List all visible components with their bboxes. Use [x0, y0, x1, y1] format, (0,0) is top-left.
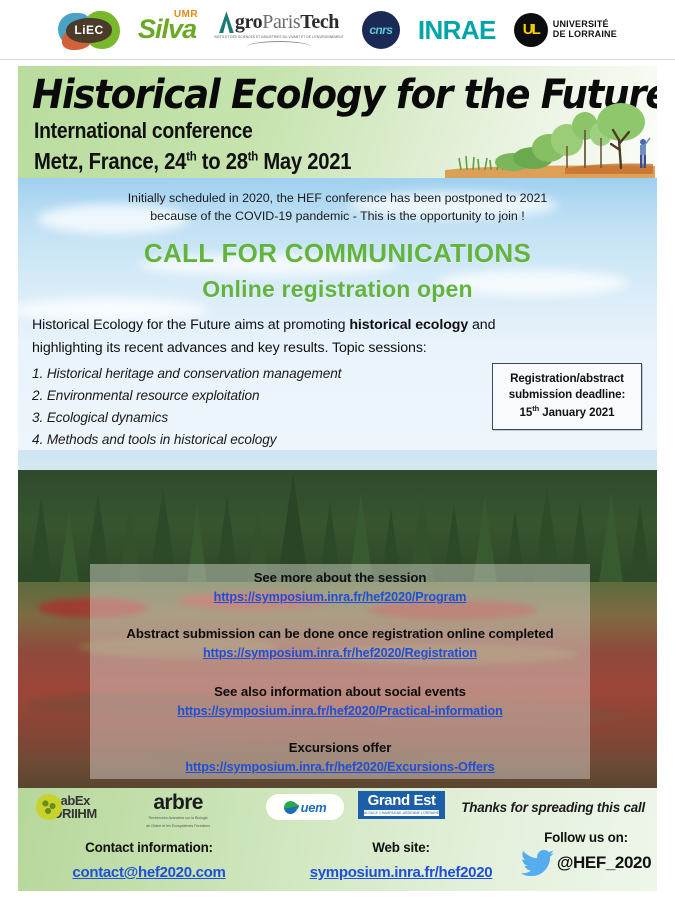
link-header-session: See more about the session [90, 570, 590, 585]
liec-logo: LiEC [58, 10, 120, 50]
link-url-registration[interactable]: https://symposium.inra.fr/hef2020/Regist… [90, 646, 590, 660]
title-banner: Historical Ecology for the Future Intern… [18, 66, 657, 178]
arbre-tagline-2: de l'Arbre et les Ecosystèmes Forestiers [146, 824, 210, 829]
conifer-tree [28, 498, 54, 590]
arbre-tagline-1: Recherches Avancées sur la Biologie [146, 816, 210, 821]
ul-wordmark: UNIVERSITÉ DE LORRAINE [553, 20, 617, 39]
uem-leaf-icon [281, 798, 299, 816]
date-mid: to 28 [196, 148, 247, 174]
landscape-photo-section: See more about the session https://sympo… [18, 450, 657, 788]
conference-poster: LiEC Silva UMR groParisTech INSTITUT DES… [0, 0, 675, 900]
conifer-tree [598, 494, 624, 590]
website-block: Web site: symposium.inra.fr/hef2020 [276, 840, 526, 881]
links-panel: See more about the session https://sympo… [90, 564, 590, 779]
intro-part-1: Historical Ecology for the Future aims a… [32, 317, 349, 333]
inrae-logo: INRAE [418, 17, 496, 43]
partner-logo-bar: LiEC Silva UMR groParisTech INSTITUT DES… [0, 0, 675, 60]
agroparistech-wordmark: groParisTech [219, 11, 339, 33]
link-url-excursions-offers[interactable]: https://symposium.inra.fr/hef2020/Excurs… [90, 760, 590, 774]
contact-header: Contact information: [44, 840, 254, 855]
footer-section: LabEx DRIIHM arbre Recherches Avancées s… [18, 788, 657, 891]
topic-session-list: 1. Historical heritage and conservation … [32, 363, 502, 450]
online-registration-heading: Online registration open [18, 276, 657, 303]
thanks-message: Thanks for spreading this call [461, 800, 645, 815]
twitter-handle-row[interactable]: @HEF_2020 [518, 850, 654, 876]
deadline-date: 15th January 2021 [499, 404, 635, 421]
uem-wordmark: uem [301, 800, 327, 815]
link-url-program[interactable]: https://symposium.inra.fr/hef2020/Progra… [90, 590, 590, 604]
ul-mark-text: UL [523, 21, 539, 38]
twitter-bird-icon[interactable] [521, 850, 555, 876]
arbre-logo: arbre Recherches Avancées sur la Biologi… [146, 792, 210, 830]
arbre-wordmark: arbre [146, 792, 210, 813]
topic-item: 4. Methods and tools in historical ecolo… [32, 429, 502, 450]
agroparistech-tagline: INSTITUT DES SCIENCES ET INDUSTRIES DU V… [214, 36, 344, 39]
cnrs-logo: cnrs [362, 11, 400, 49]
topic-item: 1. Historical heritage and conservation … [32, 363, 502, 385]
website-link[interactable]: symposium.inra.fr/hef2020 [276, 864, 526, 881]
topic-item: 2. Environmental resource exploitation [32, 385, 502, 407]
apt-gro: gro [235, 11, 262, 33]
grand-est-tagline: ALSACE CHAMPAGNE-ARDENNE LORRAINE [364, 810, 439, 816]
ul-mark-icon: UL [514, 13, 548, 47]
intro-bold-term: historical ecology [349, 317, 468, 333]
grand-est-logo: Grand Est ALSACE CHAMPAGNE-ARDENNE LORRA… [358, 791, 445, 819]
poster-subtitle: International conference [34, 118, 253, 144]
silva-logo: Silva UMR [138, 16, 196, 43]
topic-item: 3. Ecological dynamics [32, 407, 502, 429]
forest-succession-illustration [445, 100, 655, 178]
link-url-practical-information[interactable]: https://symposium.inra.fr/hef2020/Practi… [90, 704, 590, 718]
contact-email-link[interactable]: contact@hef2020.com [44, 864, 254, 881]
liec-wordmark-core: LiEC [66, 18, 112, 43]
date-prefix: Metz, France, 24 [34, 148, 186, 174]
grand-est-wordmark: Grand Est [364, 793, 439, 809]
website-header: Web site: [276, 840, 526, 855]
apt-paris: Paris [262, 11, 300, 33]
link-header-social-events: See also information about social events [90, 684, 590, 699]
universite-de-lorraine-logo: UL UNIVERSITÉ DE LORRAINE [514, 13, 617, 47]
deadline-day: 15 [520, 406, 533, 419]
twitter-handle-text[interactable]: @HEF_2020 [557, 853, 651, 873]
deadline-line-1: Registration/abstract [499, 371, 635, 387]
contact-block: Contact information: contact@hef2020.com [44, 840, 254, 881]
call-for-communications-heading: CALL FOR COMMUNICATIONS [18, 238, 657, 269]
date-sup-2: th [248, 148, 258, 163]
intro-paragraph: Historical Ecology for the Future aims a… [32, 314, 502, 360]
silva-logo-text: Silva [138, 16, 196, 43]
labex-driihm-logo: LabEx DRIIHM [36, 794, 97, 820]
deadline-box: Registration/abstract submission deadlin… [492, 363, 642, 430]
follow-block: Follow us on: @HEF_2020 [518, 830, 654, 876]
postponement-notice: Initially scheduled in 2020, the HEF con… [18, 190, 657, 226]
notice-line-2: because of the COVID-19 pandemic - This … [18, 208, 657, 226]
ul-line-2: DE LORRAINE [553, 30, 617, 39]
announcement-section: Initially scheduled in 2020, the HEF con… [18, 178, 657, 450]
uem-logo: uem [266, 794, 344, 820]
agroparistech-a-icon [219, 11, 234, 33]
deadline-month-year: January 2021 [539, 406, 614, 419]
conifer-tree [628, 504, 652, 590]
date-suffix: May 2021 [258, 148, 351, 174]
date-sup-1: th [186, 148, 196, 163]
labex-dot-circle-icon [36, 794, 62, 820]
intro-text-block: Historical Ecology for the Future aims a… [32, 314, 502, 450]
notice-line-1: Initially scheduled in 2020, the HEF con… [18, 190, 657, 208]
person-figure-icon [640, 138, 650, 168]
apt-tech: Tech [300, 11, 339, 33]
cnrs-logo-text: cnrs [369, 23, 392, 37]
conifer-tree [58, 510, 80, 590]
link-header-abstract: Abstract submission can be done once reg… [90, 626, 590, 641]
link-header-excursions: Excursions offer [90, 740, 590, 755]
agroparistech-logo: groParisTech INSTITUT DES SCIENCES ET IN… [214, 11, 344, 47]
deadline-line-2: submission deadline: [499, 387, 635, 403]
poster-date-location: Metz, France, 24th to 28th May 2021 [34, 148, 351, 175]
agroparistech-text: groParisTech [235, 12, 339, 32]
follow-header: Follow us on: [518, 830, 654, 845]
agroparistech-arc-icon [247, 41, 311, 48]
silva-umr-badge: UMR [174, 9, 198, 20]
liec-logo-text: LiEC [74, 23, 103, 37]
